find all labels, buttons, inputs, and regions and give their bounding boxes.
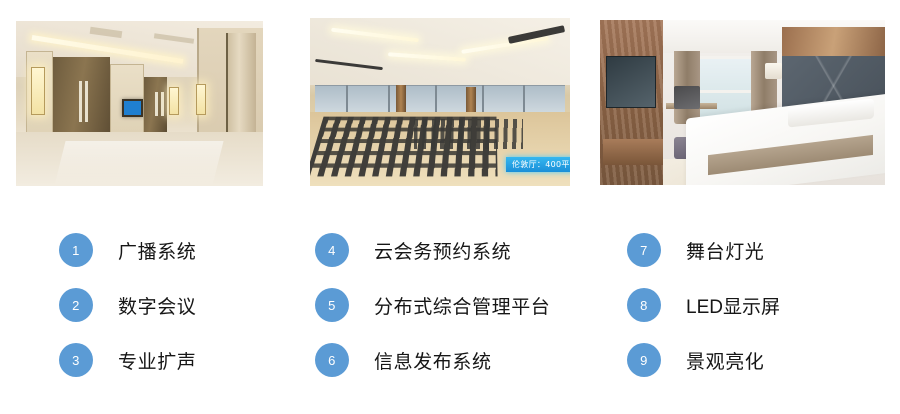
information-display-icon <box>122 99 143 118</box>
hall-column <box>396 85 406 115</box>
item-label: 广播系统 <box>118 237 196 264</box>
elevator-door <box>144 77 166 133</box>
item-number-badge: 1 <box>59 233 93 267</box>
list-item[interactable]: 9 景观亮化 <box>602 338 900 382</box>
photo-strip: 伦敦厅：400平方 <box>0 0 900 200</box>
desk-chair <box>674 86 700 109</box>
hall-column <box>466 87 476 114</box>
list-item[interactable]: 1 广播系统 <box>0 228 300 272</box>
window-mullion <box>346 85 348 112</box>
wall-sconce-icon <box>196 84 205 116</box>
item-label: LED显示屏 <box>686 292 780 319</box>
item-number-badge: 3 <box>59 343 93 377</box>
item-label: 分布式综合管理平台 <box>374 292 550 319</box>
conference-hall-illustration: 伦敦厅：400平方 <box>310 18 570 186</box>
item-number-badge: 7 <box>627 233 661 267</box>
list-item[interactable]: 2 数字会议 <box>0 283 300 327</box>
item-label: 信息发布系统 <box>374 347 492 374</box>
hall-ceiling <box>310 18 570 85</box>
list-item[interactable]: 3 专业扩声 <box>0 338 300 382</box>
feature-list: 1 广播系统 2 数字会议 3 专业扩声 4 云会务预约系统 5 分布式综合管理… <box>0 200 900 414</box>
item-label: 专业扩声 <box>118 347 196 374</box>
chair-rows-far <box>414 119 523 149</box>
item-number-badge: 6 <box>315 343 349 377</box>
lobby-floor <box>16 132 263 186</box>
hall-window-wall <box>315 85 565 114</box>
slide-canvas: 伦敦厅：400平方 <box>0 0 900 414</box>
window-mullion <box>435 85 437 112</box>
lobby-illustration <box>16 21 263 186</box>
wall-sconce-icon <box>31 67 45 115</box>
list-item[interactable]: 8 LED显示屏 <box>602 283 900 327</box>
list-item[interactable]: 5 分布式综合管理平台 <box>296 283 596 327</box>
item-label: 数字会议 <box>118 292 196 319</box>
window-mullion <box>388 85 390 112</box>
item-label: 景观亮化 <box>686 347 764 374</box>
tv-console <box>603 139 663 165</box>
feature-column-1: 1 广播系统 2 数字会议 3 专业扩声 <box>0 200 300 414</box>
floor-lamp-icon <box>765 63 782 80</box>
room-wood-header <box>782 27 885 60</box>
item-label: 云会务预约系统 <box>374 237 511 264</box>
photo-guest-room <box>600 20 885 185</box>
list-item[interactable]: 6 信息发布系统 <box>296 338 596 382</box>
list-item[interactable]: 4 云会务预约系统 <box>296 228 596 272</box>
wall-sconce-icon <box>169 87 178 115</box>
photo-elevator-lobby <box>16 21 263 186</box>
window-mullion <box>523 85 525 112</box>
hall-area-badge: 伦敦厅：400平方 <box>506 157 570 172</box>
feature-column-2: 4 云会务预约系统 5 分布式综合管理平台 6 信息发布系统 <box>296 200 596 414</box>
item-number-badge: 8 <box>627 288 661 322</box>
photo-conference-hall: 伦敦厅：400平方 <box>310 18 570 186</box>
guest-room-illustration <box>600 20 885 185</box>
television-icon <box>606 56 656 108</box>
item-number-badge: 2 <box>59 288 93 322</box>
item-number-badge: 4 <box>315 233 349 267</box>
window-mullion <box>482 85 484 112</box>
list-item[interactable]: 7 舞台灯光 <box>602 228 900 272</box>
item-number-badge: 9 <box>627 343 661 377</box>
item-number-badge: 5 <box>315 288 349 322</box>
feature-column-3: 7 舞台灯光 8 LED显示屏 9 景观亮化 <box>602 200 900 414</box>
item-label: 舞台灯光 <box>686 237 764 264</box>
